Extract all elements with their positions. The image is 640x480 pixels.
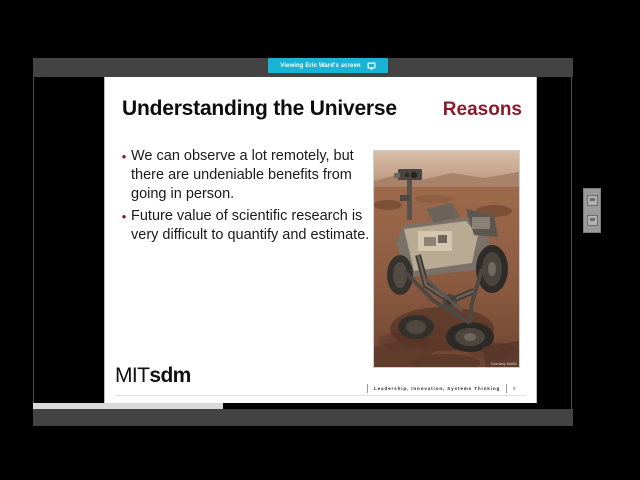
slide-header: Understanding the Universe Reasons xyxy=(122,97,522,121)
bullet-marker-icon: • xyxy=(117,147,131,166)
footer-tagline: Leadership, Innovation, Systems Thinking xyxy=(374,386,500,391)
mars-curiosity-rover-photo: Courtesy NASA xyxy=(373,150,520,368)
mit-sdm-logo: MITsdm xyxy=(115,365,191,386)
slide-page-number: 5 xyxy=(513,386,516,391)
viewing-status-label: Viewing Eric Ward's screen xyxy=(280,63,360,69)
annotate-icon[interactable] xyxy=(587,215,598,226)
viewing-status-banner[interactable]: Viewing Eric Ward's screen xyxy=(268,58,388,73)
page-title: Understanding the Universe xyxy=(122,97,397,121)
screen-share-icon xyxy=(367,62,376,70)
annotation-toolbar[interactable] xyxy=(583,188,601,233)
list-item: • Future value of scientific research is… xyxy=(117,207,372,245)
bullet-text: Future value of scientific research is v… xyxy=(131,207,372,245)
bullet-text: We can observe a lot remotely, but there… xyxy=(131,147,372,204)
list-item: • We can observe a lot remotely, but the… xyxy=(117,147,372,204)
footer-divider xyxy=(367,384,368,393)
presentation-slide: Understanding the Universe Reasons • We … xyxy=(104,77,537,403)
bullet-list: • We can observe a lot remotely, but the… xyxy=(117,147,372,248)
logo-sdm: sdm xyxy=(149,364,190,387)
photo-credit: Courtesy NASA xyxy=(491,362,517,366)
annotate-icon[interactable] xyxy=(587,195,598,206)
screen-share-window: Viewing Eric Ward's screen Understanding… xyxy=(0,0,640,480)
logo-mit: MIT xyxy=(115,364,149,387)
footer-tagline-group: Leadership, Innovation, Systems Thinking… xyxy=(367,384,516,393)
bottom-toolbar xyxy=(33,409,573,426)
footer-rule xyxy=(115,395,526,396)
slide-kicker: Reasons xyxy=(443,99,522,121)
footer-divider xyxy=(506,384,507,393)
bullet-marker-icon: • xyxy=(117,207,131,226)
